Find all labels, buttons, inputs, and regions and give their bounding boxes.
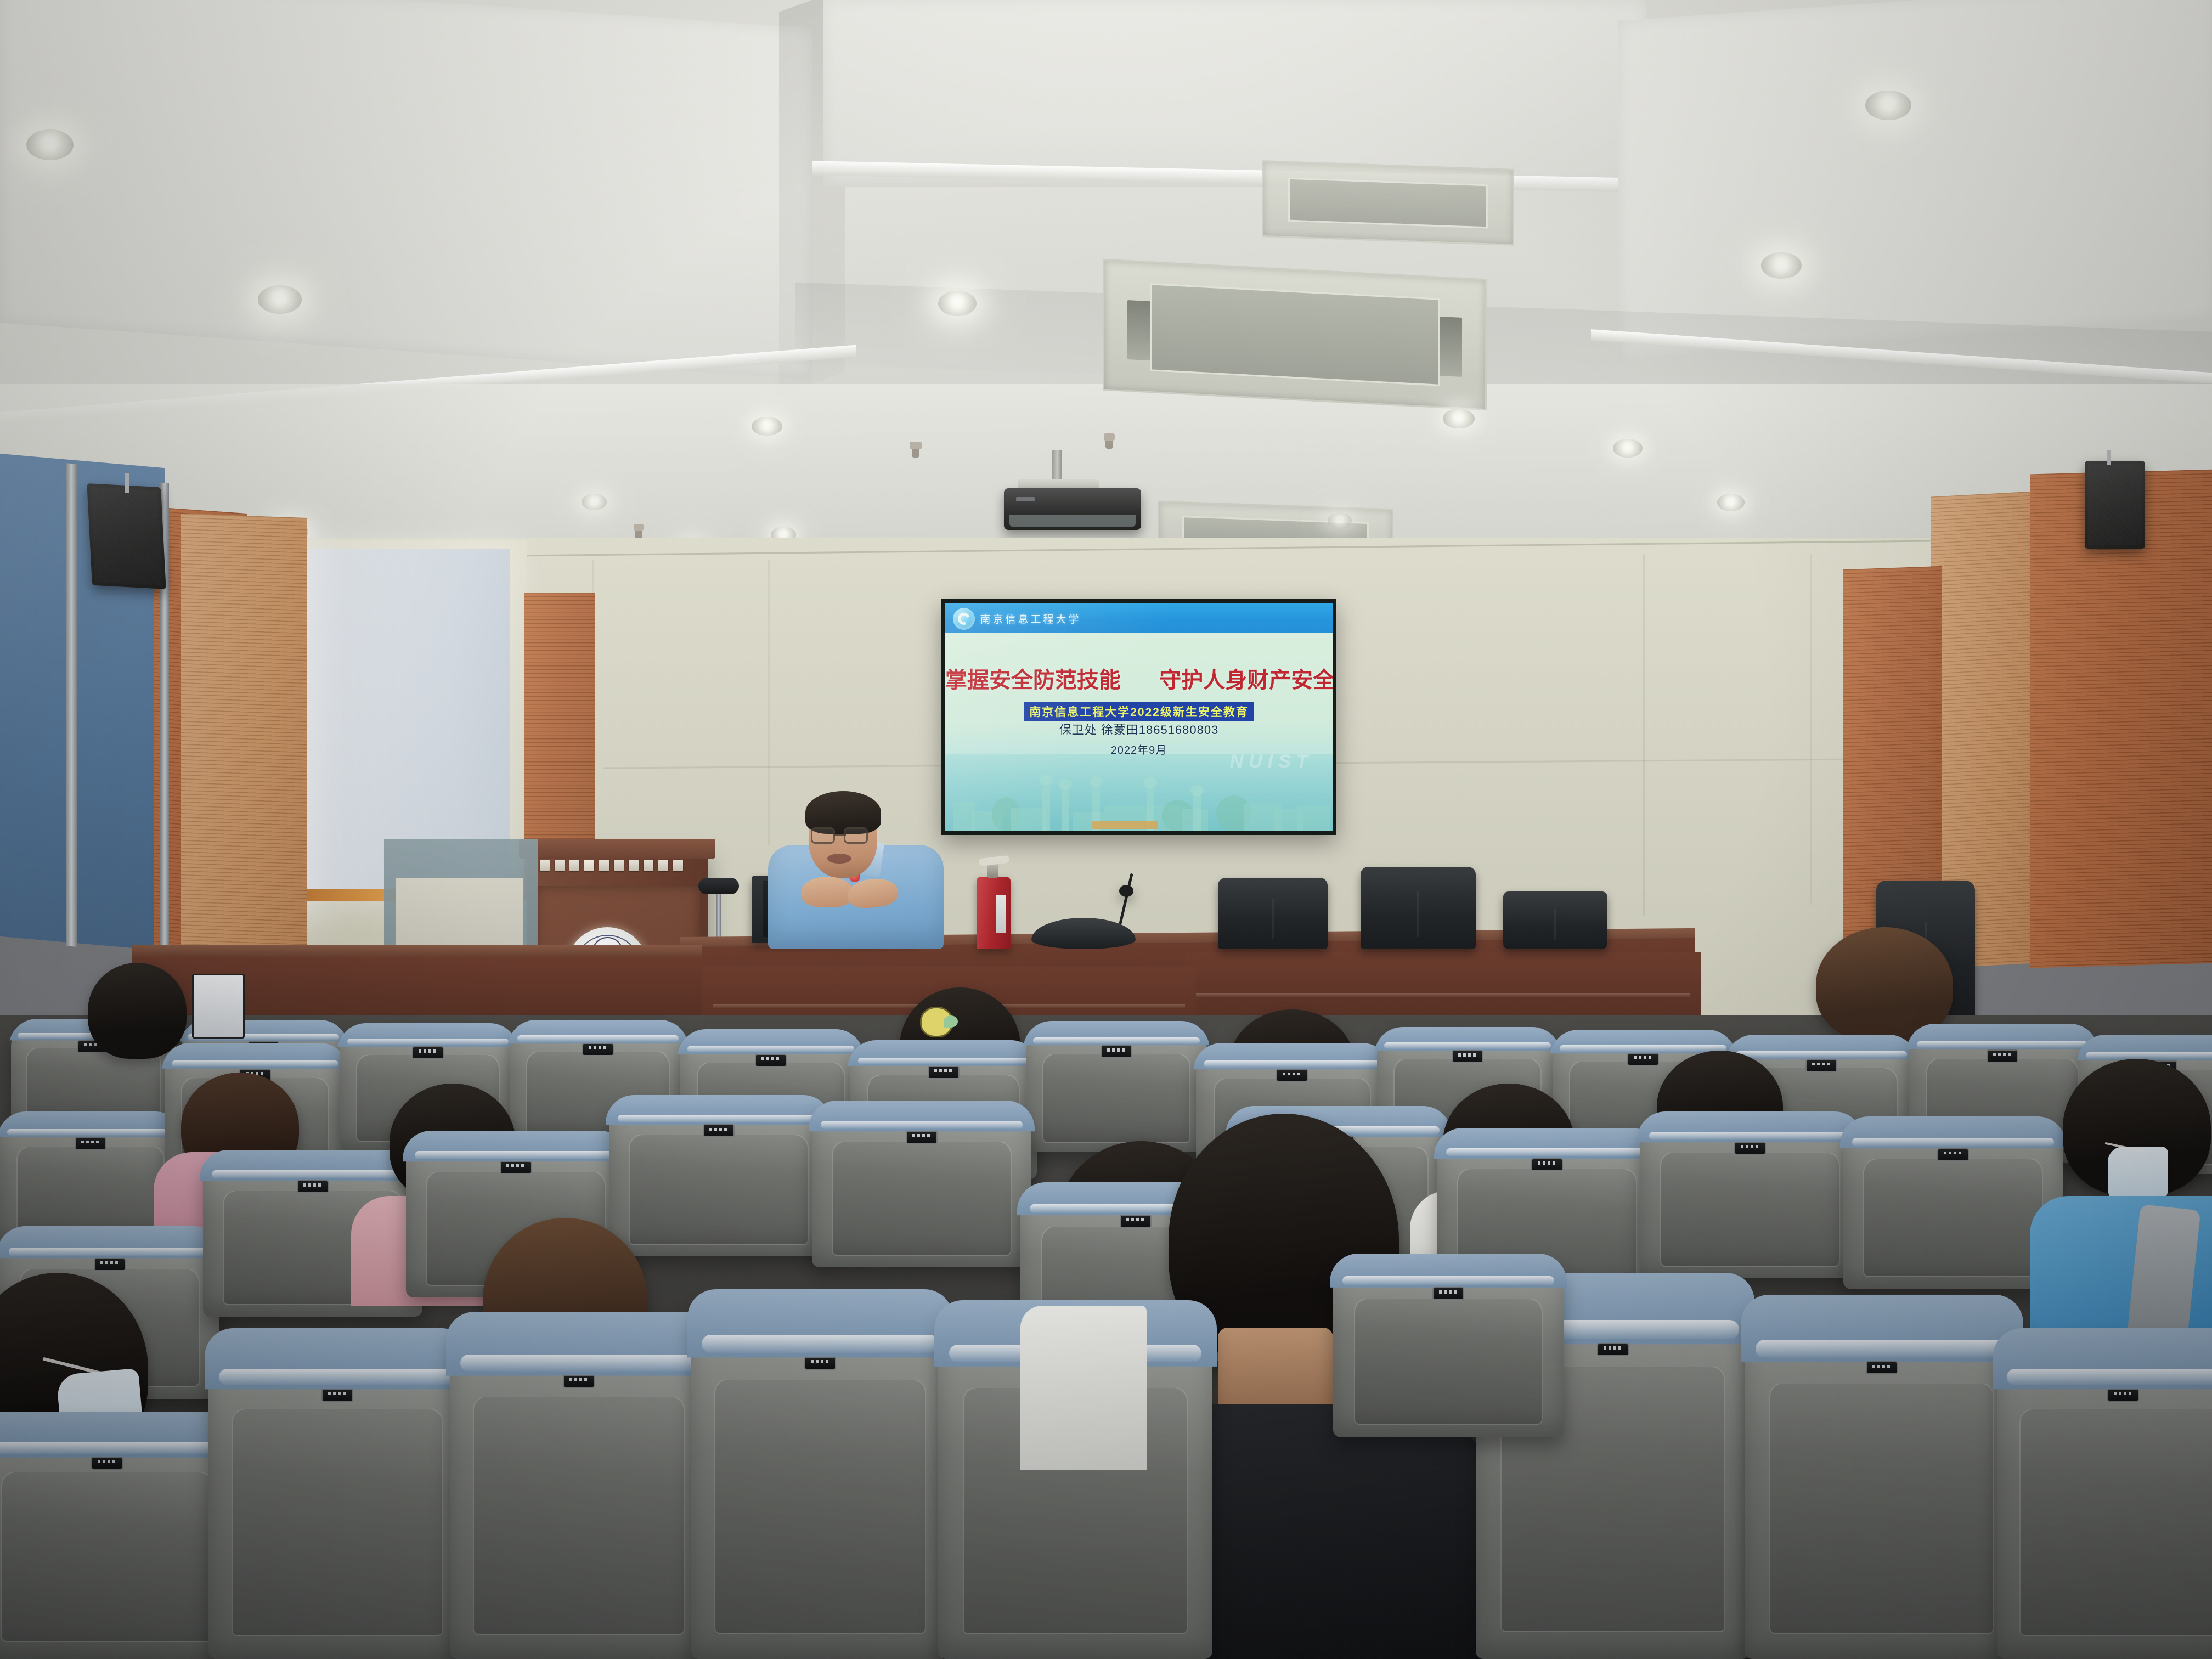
ceiling-projector (1004, 488, 1141, 530)
front-stage-trim-right (1196, 993, 1690, 997)
right-wall-speaker (2085, 461, 2145, 549)
auditorium-seat[interactable] (1026, 1023, 1207, 1152)
sprinkler-head-1 (910, 442, 922, 449)
right-speaker-bracket (2107, 450, 2111, 465)
auditorium-seat[interactable] (450, 1317, 708, 1659)
downlight-2 (258, 285, 302, 314)
downlight-14 (1328, 513, 1352, 528)
auditorium-seat[interactable] (1745, 1300, 2019, 1659)
left-wall-speaker (87, 483, 166, 589)
sprinkler-head-3 (634, 524, 644, 531)
downlight-9 (1613, 439, 1643, 458)
slide-title: 掌握安全防范技能 守护人身财产安全 (945, 662, 1333, 694)
downlight-5 (938, 291, 977, 316)
conference-chair-2 (1361, 867, 1476, 949)
ceiling-coffer-center (823, 0, 1646, 187)
ceiling-coffer-left (0, 0, 812, 380)
presenter-glasses-left-lens (811, 827, 835, 844)
wall-seam-v4 (768, 560, 770, 845)
left-pole-a (66, 463, 77, 947)
slide-logo-text: 南京信息工程大学 (980, 611, 1081, 626)
auditorium-seat[interactable] (1333, 1256, 1564, 1437)
desk-microphone (1031, 889, 1136, 949)
slide-presenter-line: 保卫处 徐蒙田18651680803 (945, 720, 1333, 738)
wall-seam-v1 (1643, 554, 1645, 916)
auditorium-seat[interactable] (812, 1103, 1031, 1267)
audience-head (88, 963, 187, 1059)
downlight-12 (582, 494, 607, 510)
auditorium-seat[interactable] (609, 1097, 828, 1256)
downlight-10 (1717, 494, 1745, 511)
downlight-6 (1865, 91, 1911, 120)
left-speaker-bracket (125, 473, 129, 493)
auditorium-seat[interactable] (1640, 1114, 1860, 1278)
presenter-glasses-bridge (834, 834, 846, 836)
university-logo-icon (953, 608, 975, 630)
flower-hairclip-icon (922, 1008, 951, 1036)
downlight-8 (1443, 409, 1475, 428)
downlight-1 (26, 129, 74, 160)
slide-highlight-line-wrap: 南京信息工程大学2022级新生安全教育 (945, 702, 1333, 721)
slide-skyline-graphic (945, 754, 1333, 831)
audience-shoulders (1020, 1306, 1147, 1470)
ceiling-coffer-right (1618, 0, 2212, 361)
left-wood-column-b (181, 513, 307, 957)
audience-phone[interactable] (192, 974, 245, 1039)
auditorium-seat[interactable] (1997, 1333, 2212, 1659)
sprinkler-head-2 (1104, 433, 1115, 441)
downlight-7 (1761, 252, 1802, 279)
auditorium-seat[interactable] (208, 1333, 466, 1659)
presentation-slide: 南京信息工程大学 掌握安全防范技能 守护人身财产安全 南京信息工程大学2022级… (945, 603, 1333, 831)
projection-screen: 南京信息工程大学 掌握安全防范技能 守护人身财产安全 南京信息工程大学2022级… (941, 599, 1336, 835)
presenter-hand-left (801, 877, 854, 907)
auditorium-seat[interactable] (0, 1415, 236, 1659)
downlight-4 (752, 417, 782, 436)
auditorium-seat[interactable] (691, 1295, 949, 1659)
fire-extinguisher (977, 877, 1011, 949)
presenter-mouth (827, 854, 851, 864)
conference-chair-1 (1218, 878, 1328, 949)
lectern-sign (540, 860, 683, 871)
slide-title-left: 掌握安全防范技能 (945, 662, 1121, 694)
wall-seam-v2 (1810, 554, 1812, 905)
presenter-glasses-right-lens (844, 827, 868, 844)
projector-mount-pole (1052, 450, 1062, 484)
ac-vent-center (1103, 259, 1487, 411)
ac-vent-upper (1262, 160, 1514, 246)
lecture-hall-photo: 南京信息工程大学 掌握安全防范技能 守护人身财产安全 南京信息工程大学2022级… (0, 0, 2212, 1659)
slide-highlight-line: 南京信息工程大学2022级新生安全教育 (1024, 702, 1254, 721)
slide-title-right: 守护人身财产安全 (1159, 662, 1333, 694)
front-stage-block-left-top (132, 945, 702, 957)
conference-chair-3 (1503, 891, 1607, 949)
